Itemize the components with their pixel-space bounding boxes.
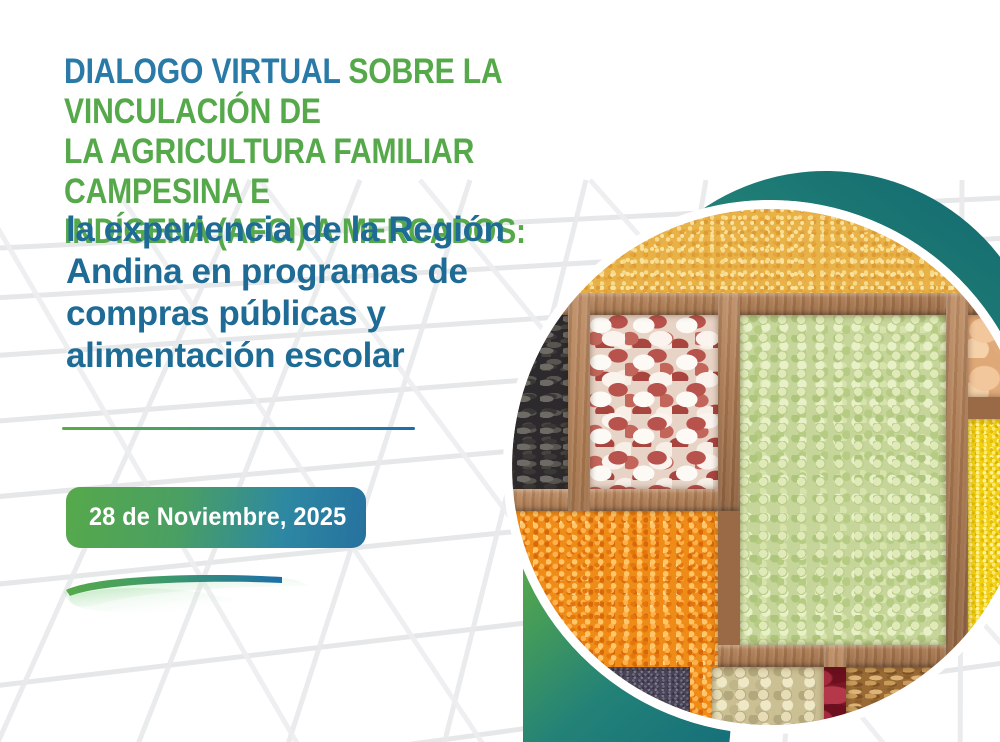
compartment-black-beans xyxy=(968,667,1000,725)
gradient-swoosh-decoration xyxy=(36,556,356,666)
compartment-green-lentils xyxy=(712,667,824,725)
compartment-corn-grits xyxy=(968,419,1000,645)
headline-line2: LA AGRICULTURA FAMILIAR CAMPESINA E xyxy=(64,132,482,211)
box-frame-rail-c1 xyxy=(718,293,740,511)
gradient-divider xyxy=(62,427,415,430)
compartment-pinto-beans xyxy=(590,315,718,489)
date-badge-label: 28 de Noviembre, 2025 xyxy=(89,503,346,532)
compartment-flax-seeds xyxy=(846,667,946,725)
compartment-chickpeas xyxy=(968,315,1000,397)
page-subtitle: la experiencia de la Región Andina en pr… xyxy=(66,209,586,377)
compartment-poppy-seeds xyxy=(590,667,690,725)
compartment-green-split-peas xyxy=(740,315,946,645)
date-badge: 28 de Noviembre, 2025 xyxy=(66,487,366,548)
compartment-poppy-seeds-lower xyxy=(512,667,568,725)
box-frame-rail-c2 xyxy=(946,293,968,667)
headline-brand: DIALOGO VIRTUAL xyxy=(64,52,340,91)
poster-canvas: DIALOGO VIRTUAL SOBRE LA VINCULACIÓN DEL… xyxy=(0,0,1000,742)
